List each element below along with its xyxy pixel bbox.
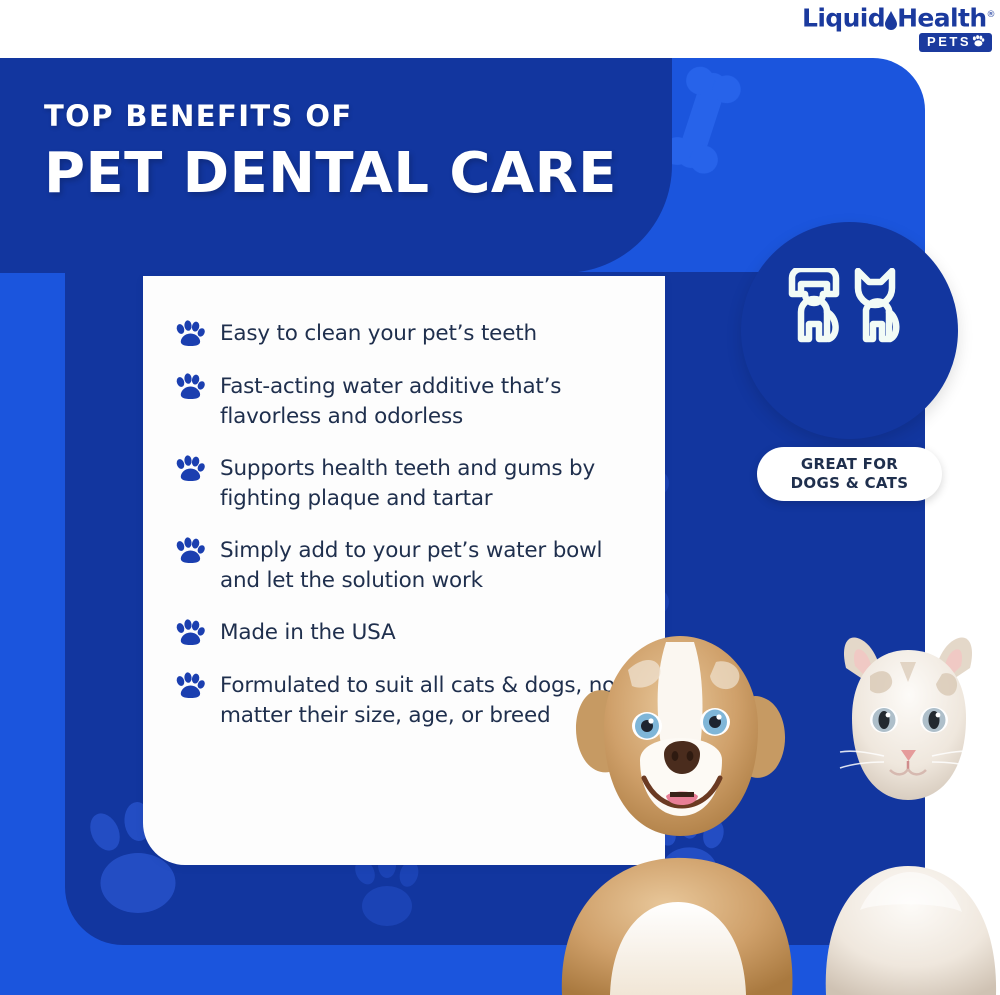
page-title: PET DENTAL CARE (44, 144, 644, 204)
list-item: Supports health teeth and gums by fighti… (175, 454, 635, 514)
cat-outline-icon (858, 271, 896, 339)
paw-print-icon (175, 373, 205, 403)
dog-outline-icon (792, 269, 836, 339)
registered-mark-icon: ® (987, 10, 995, 20)
brand-pets-label: PETS (927, 34, 971, 49)
header-kicker: TOP BENEFITS OF (44, 100, 644, 132)
brand-name-part2: Health (897, 3, 986, 32)
brand-logo: LiquidHealth® PETS (802, 2, 992, 54)
brand-name-part1: Liquid (802, 3, 885, 32)
badge-line-2: DOGS & CATS (791, 474, 909, 493)
paw-icon (972, 35, 985, 49)
pets-photo (540, 610, 1000, 995)
dog-photo (562, 636, 793, 995)
benefit-text: Made in the USA (220, 618, 395, 648)
paw-print-icon (175, 619, 205, 649)
benefit-text: Supports health teeth and gums by fighti… (220, 454, 635, 514)
paw-print-icon (175, 537, 205, 567)
water-drop-icon (884, 10, 898, 30)
dog-and-cat-outline-icons (785, 268, 915, 393)
badge-line-1: GREAT FOR (801, 455, 898, 474)
paw-print-icon (175, 672, 205, 702)
status-badge: GREAT FOR DOGS & CATS (757, 447, 942, 501)
cat-photo (826, 638, 996, 995)
header-block: TOP BENEFITS OF PET DENTAL CARE (0, 58, 672, 273)
benefit-text: Simply add to your pet’s water bowl and … (220, 536, 635, 596)
list-item: Easy to clean your pet’s teeth (175, 319, 635, 350)
list-item: Fast-acting water additive that’s flavor… (175, 372, 635, 432)
header-text-group: TOP BENEFITS OF PET DENTAL CARE (44, 100, 644, 204)
benefit-text: Fast-acting water additive that’s flavor… (220, 372, 635, 432)
benefit-text: Easy to clean your pet’s teeth (220, 319, 537, 349)
brand-wordmark: LiquidHealth® (802, 2, 992, 31)
paw-print-icon (175, 320, 205, 350)
paw-print-icon (175, 455, 205, 485)
dog-cat-icon-circle (741, 222, 958, 439)
brand-pets-badge: PETS (919, 33, 992, 52)
infographic-canvas: TOP BENEFITS OF PET DENTAL CARE (0, 0, 1000, 995)
list-item: Simply add to your pet’s water bowl and … (175, 536, 635, 596)
